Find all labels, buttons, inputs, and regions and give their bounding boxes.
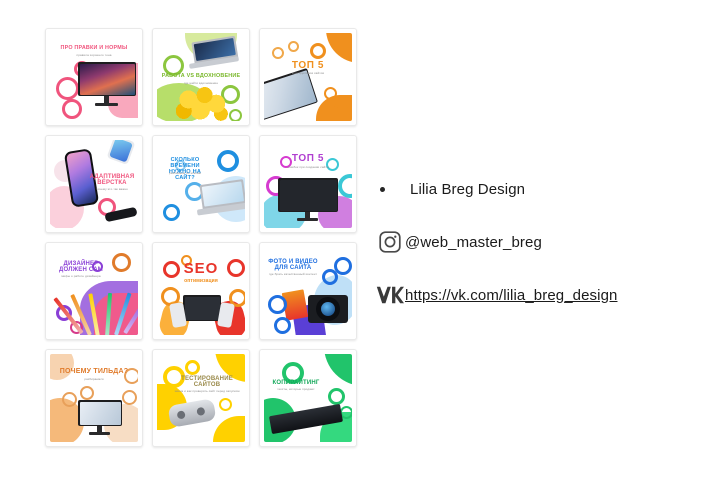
decor-ring — [112, 253, 131, 272]
question-mark-icon — [122, 390, 137, 405]
monitor-screen — [264, 70, 316, 120]
decor-ring — [268, 295, 287, 314]
tile-artwork-9: ФОТО И ВИДЕО ДЛЯ САЙТА где брать качеств… — [264, 247, 352, 335]
tile-artwork-7: ДИЗАЙНЕР ДОЛЖЕН САМ мифы о работе дизайн… — [50, 247, 138, 335]
phone-graphic-2 — [107, 140, 136, 165]
tile-artwork-11: ТЕСТИРОВАНИЕ САЙТОВ зачем и как проверят… — [157, 354, 245, 442]
decor-blob — [50, 354, 74, 380]
tile-title: КОПИРАЙТИНГ — [266, 380, 326, 386]
designer-name: Lilia Breg Design — [410, 181, 525, 198]
portfolio-tile-3[interactable]: ТОП 5 конструкторов сайтов — [259, 28, 357, 126]
tile-subtitle: разбираемся — [50, 378, 138, 381]
portfolio-tile-1[interactable]: ПРО ПРАВКИ И НОРМЫ правила хорошего тона — [45, 28, 143, 126]
contact-row-vk[interactable]: https://vk.com/lilia_breg_design — [375, 278, 695, 312]
camera-lens — [316, 297, 340, 321]
decor-ring — [310, 43, 326, 59]
portfolio-tile-8[interactable]: SEO оптимизация — [152, 242, 250, 340]
decor-ring — [217, 150, 239, 172]
tile-title: ТОП 5 — [264, 61, 352, 72]
tile-artwork-3: ТОП 5 конструкторов сайтов — [264, 33, 352, 121]
tile-subtitle: разбираем по этапам — [159, 172, 211, 175]
decor-blob — [324, 354, 352, 386]
decor-blob — [213, 416, 245, 442]
decor-ring — [288, 41, 299, 52]
bullet-dot-icon — [380, 187, 385, 192]
portfolio-tile-7[interactable]: ДИЗАЙНЕР ДОЛЖЕН САМ мифы о работе дизайн… — [45, 242, 143, 340]
monitor-screen — [80, 64, 135, 95]
decor-ring — [62, 99, 82, 119]
flowers-graphic — [171, 85, 229, 121]
tile-subtitle: правила хорошего тона — [50, 54, 138, 57]
tile-title: ТОП 5 — [264, 154, 352, 165]
gamepad-stick — [177, 410, 186, 419]
portfolio-tile-4[interactable]: АДАПТИВНАЯ ВЁРСТКА почему это так важно — [45, 135, 143, 233]
tile-artwork-4: АДАПТИВНАЯ ВЁРСТКА почему это так важно — [50, 140, 138, 228]
portfolio-tile-5[interactable]: СКОЛЬКО ВРЕМЕНИ НУЖНО НА САЙТ? разбираем… — [152, 135, 250, 233]
camera-lens-inner — [321, 302, 335, 316]
monitor-screen — [80, 402, 121, 425]
decor-ring — [219, 398, 232, 411]
vk-profile-link[interactable]: https://vk.com/lilia_breg_design — [405, 287, 617, 304]
tile-title: ФОТО И ВИДЕО ДЛЯ САЙТА — [266, 259, 320, 272]
monitor-graphic — [264, 68, 318, 121]
tile-subtitle: ошибок при создании сайта — [264, 166, 352, 169]
contact-list: Lilia Breg Design @web_master_breg https… — [375, 172, 695, 312]
decor-ring — [338, 174, 352, 198]
instagram-icon — [375, 230, 405, 254]
tile-artwork-1: ПРО ПРАВКИ И НОРМЫ правила хорошего тона — [50, 33, 138, 121]
monitor-screen — [280, 180, 337, 211]
tile-subtitle: тексты, которые продают — [266, 388, 326, 391]
tile-artwork-6: ТОП 5 ошибок при создании сайта — [264, 140, 352, 228]
tile-title: ПРО ПРАВКИ И НОРМЫ — [50, 46, 138, 52]
monitor-foot — [95, 103, 118, 106]
decor-ring — [322, 269, 338, 285]
monitor-screen — [185, 297, 220, 320]
tile-title: SEO — [157, 261, 245, 277]
tile-artwork-10: ПОЧЕМУ ТИЛЬДА? разбираемся — [50, 354, 138, 442]
contact-row-instagram[interactable]: @web_master_breg — [375, 225, 695, 259]
bullet-marker — [375, 187, 410, 192]
question-mark-icon — [80, 386, 94, 400]
monitor-graphic — [78, 400, 122, 426]
portfolio-tile-12[interactable]: КОПИРАЙТИНГ тексты, которые продают — [259, 349, 357, 447]
decor-ring — [334, 101, 351, 118]
portfolio-tile-9[interactable]: ФОТО И ВИДЕО ДЛЯ САЙТА где брать качеств… — [259, 242, 357, 340]
portfolio-tile-10[interactable]: ПОЧЕМУ ТИЛЬДА? разбираемся — [45, 349, 143, 447]
phone-screen-2 — [109, 140, 133, 162]
tile-subtitle: зачем и как проверять сайт перед запуско… — [173, 390, 241, 393]
decor-ring — [274, 317, 291, 334]
tile-subtitle: конструкторов сайтов — [264, 72, 352, 75]
gamepad-stick — [196, 407, 205, 416]
decor-ring — [229, 109, 242, 121]
decor-ring — [185, 360, 200, 375]
tile-subtitle: почему это так важно — [88, 188, 136, 191]
tile-artwork-2: РАБОТА vs ВДОХНОВЕНИЕ где найти вдохнове… — [157, 33, 245, 121]
vk-icon — [375, 285, 405, 305]
portfolio-tile-6[interactable]: ТОП 5 ошибок при создании сайта — [259, 135, 357, 233]
question-mark-icon — [62, 392, 77, 407]
portfolio-screenshot: ПРО ПРАВКИ И НОРМЫ правила хорошего тона… — [0, 0, 720, 480]
tile-title: РАБОТА vs ВДОХНОВЕНИЕ — [157, 74, 245, 80]
portfolio-grid: ПРО ПРАВКИ И НОРМЫ правила хорошего тона… — [45, 28, 363, 445]
decor-ring — [56, 77, 79, 100]
tile-subtitle: где найти вдохновение — [157, 82, 245, 85]
monitor-graphic — [183, 295, 221, 321]
tile-title: ТЕСТИРОВАНИЕ САЙТОВ — [173, 376, 241, 389]
instagram-handle[interactable]: @web_master_breg — [405, 234, 542, 251]
tile-subtitle: оптимизация — [157, 279, 245, 285]
monitor-foot — [89, 432, 110, 435]
tile-title: ПОЧЕМУ ТИЛЬДА? — [50, 368, 138, 375]
portfolio-tile-2[interactable]: РАБОТА vs ВДОХНОВЕНИЕ где найти вдохнове… — [152, 28, 250, 126]
monitor-graphic — [278, 178, 338, 212]
tile-artwork-12: КОПИРАЙТИНГ тексты, которые продают — [264, 354, 352, 442]
tile-title: ДИЗАЙНЕР ДОЛЖЕН САМ — [52, 261, 110, 274]
monitor-foot — [297, 218, 318, 221]
tile-artwork-5: СКОЛЬКО ВРЕМЕНИ НУЖНО НА САЙТ? разбираем… — [157, 140, 245, 228]
decor-blob — [326, 33, 352, 63]
monitor-graphic — [78, 62, 136, 96]
decor-ring — [272, 47, 284, 59]
tile-title: СКОЛЬКО ВРЕМЕНИ НУЖНО НА САЙТ? — [159, 158, 211, 181]
decor-ring — [328, 388, 345, 405]
contact-row-name: Lilia Breg Design — [375, 172, 695, 206]
tile-subtitle: где брать качественный контент — [266, 273, 320, 276]
decor-ring — [324, 87, 337, 100]
tile-title: АДАПТИВНАЯ ВЁРСТКА — [88, 174, 136, 187]
decor-ring — [163, 204, 180, 221]
tile-artwork-8: SEO оптимизация — [157, 247, 245, 335]
tile-subtitle: мифы о работе дизайнера — [52, 275, 110, 278]
portfolio-tile-11[interactable]: ТЕСТИРОВАНИЕ САЙТОВ зачем и как проверят… — [152, 349, 250, 447]
